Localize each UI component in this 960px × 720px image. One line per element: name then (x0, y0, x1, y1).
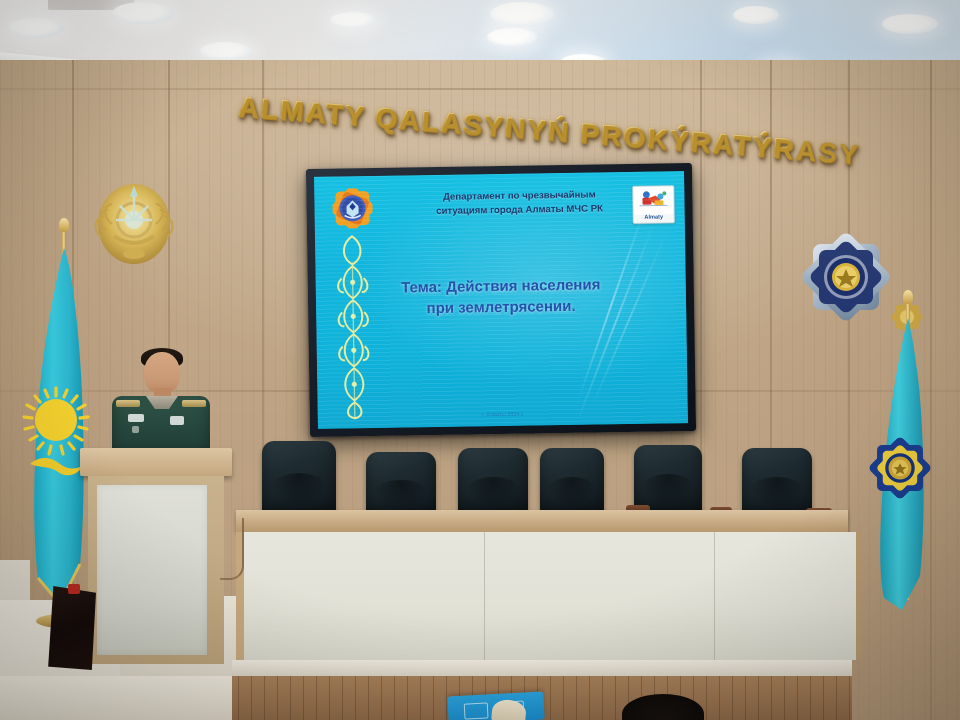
skirt-slat (602, 676, 603, 720)
skirt-slat (264, 676, 265, 720)
desk-panel-seam (484, 532, 485, 660)
skirt-slat (420, 676, 421, 720)
skirt-slat (758, 676, 759, 720)
skirt-slat (342, 676, 343, 720)
skirt-slat (836, 676, 837, 720)
floor-front (0, 676, 236, 720)
ceiling-light-icon (330, 12, 376, 28)
skirt-slat (849, 676, 850, 720)
skirt-slat (576, 676, 577, 720)
bag-red-tab (68, 584, 80, 594)
skirt-slat (615, 676, 616, 720)
ceiling-light-icon (200, 42, 252, 60)
skirt-slat (238, 676, 239, 720)
skirt-slat (277, 676, 278, 720)
presenter-chest-badge (128, 414, 144, 422)
presenter-epaulette-right (182, 400, 206, 407)
skirt-slat (368, 676, 369, 720)
skirt-slat (303, 676, 304, 720)
skirt-slat (797, 676, 798, 720)
folder-panel-left (464, 702, 489, 719)
skirt-slat (381, 676, 382, 720)
skirt-slat (316, 676, 317, 720)
conference-hall-photo: ALMATY QALASYNYŃ PROKÝRATÝRASY (0, 0, 960, 720)
ceiling-light-icon (733, 6, 779, 24)
lectern-top (80, 448, 232, 476)
skirt-slat (732, 676, 733, 720)
slide: Департамент по чрезвычайным ситуациям го… (314, 171, 688, 429)
panel-chair[interactable] (742, 448, 812, 518)
skirt-slat (719, 676, 720, 720)
microphone-cable (220, 518, 244, 580)
panel-desk-base (232, 660, 852, 676)
skirt-slat (407, 676, 408, 720)
presenter-epaulette-left (116, 400, 140, 407)
panel-chair[interactable] (540, 448, 604, 516)
skirt-slat (563, 676, 564, 720)
skirt-slat (355, 676, 356, 720)
panel-chair[interactable] (458, 448, 528, 516)
panel-chair[interactable] (262, 441, 336, 517)
skirt-slat (433, 676, 434, 720)
lectern-front-panel (97, 485, 207, 655)
skirt-slat (810, 676, 811, 720)
ceiling-light-icon (8, 18, 64, 38)
flagpole-finial-right (903, 290, 913, 304)
panel-desk-top (236, 510, 848, 532)
skirt-slat (251, 676, 252, 720)
skirt-slat (784, 676, 785, 720)
skirt-slat (771, 676, 772, 720)
panel-desk-front (236, 532, 862, 660)
presenter (108, 348, 214, 460)
ceiling-light-icon (882, 14, 938, 34)
skirt-slat (745, 676, 746, 720)
skirt-slat (329, 676, 330, 720)
skirt-slat (290, 676, 291, 720)
wall-horizontal-seam (0, 88, 960, 90)
presenter-insignia (132, 426, 139, 433)
skirt-slat (589, 676, 590, 720)
skirt-slat (706, 676, 707, 720)
panel-chair[interactable] (366, 452, 436, 518)
lectern (80, 448, 232, 676)
skirt-slat (823, 676, 824, 720)
lectern-body (88, 476, 224, 664)
flagpole-finial-left (59, 218, 69, 232)
display-panel: Департамент по чрезвычайным ситуациям го… (314, 171, 688, 429)
presentation-display[interactable]: Департамент по чрезвычайным ситуациям го… (306, 163, 696, 437)
ceiling-light-icon (112, 2, 174, 24)
screen-scanlines (314, 171, 688, 429)
prosecutor-office-star-icon (800, 232, 892, 322)
ceiling-light-icon (490, 2, 554, 26)
ceiling-light-icon (487, 28, 537, 46)
prosecutor-flag-cloth (868, 318, 938, 614)
skirt-slat (394, 676, 395, 720)
desk-panel-seam (714, 532, 715, 660)
presenter-name-tag (170, 416, 184, 425)
skirt-slat (550, 676, 551, 720)
